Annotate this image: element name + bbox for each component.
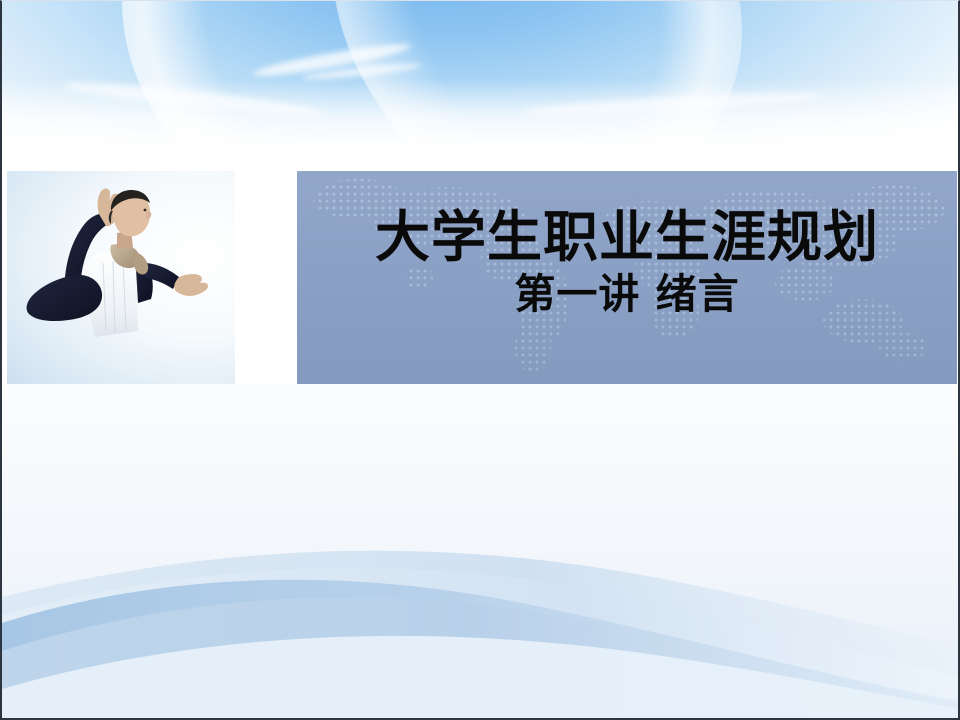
presentation-slide: 大学生职业生涯规划 第一讲 绪言	[0, 0, 960, 720]
title-block: 大学生职业生涯规划 第一讲 绪言	[297, 207, 957, 319]
header-separator	[2, 149, 960, 171]
man-arms-outstretched-icon	[7, 171, 235, 384]
title-photo	[7, 171, 235, 384]
sky-fade-overlay	[2, 79, 960, 149]
blue-wave-ribbons	[2, 519, 960, 719]
slide-title: 大学生职业生涯规划	[297, 207, 957, 267]
title-banner: 大学生职业生涯规划 第一讲 绪言	[297, 171, 957, 384]
sky-clouds-background	[2, 1, 960, 149]
slide-subtitle: 第一讲 绪言	[297, 269, 957, 319]
slide-body	[2, 384, 960, 719]
